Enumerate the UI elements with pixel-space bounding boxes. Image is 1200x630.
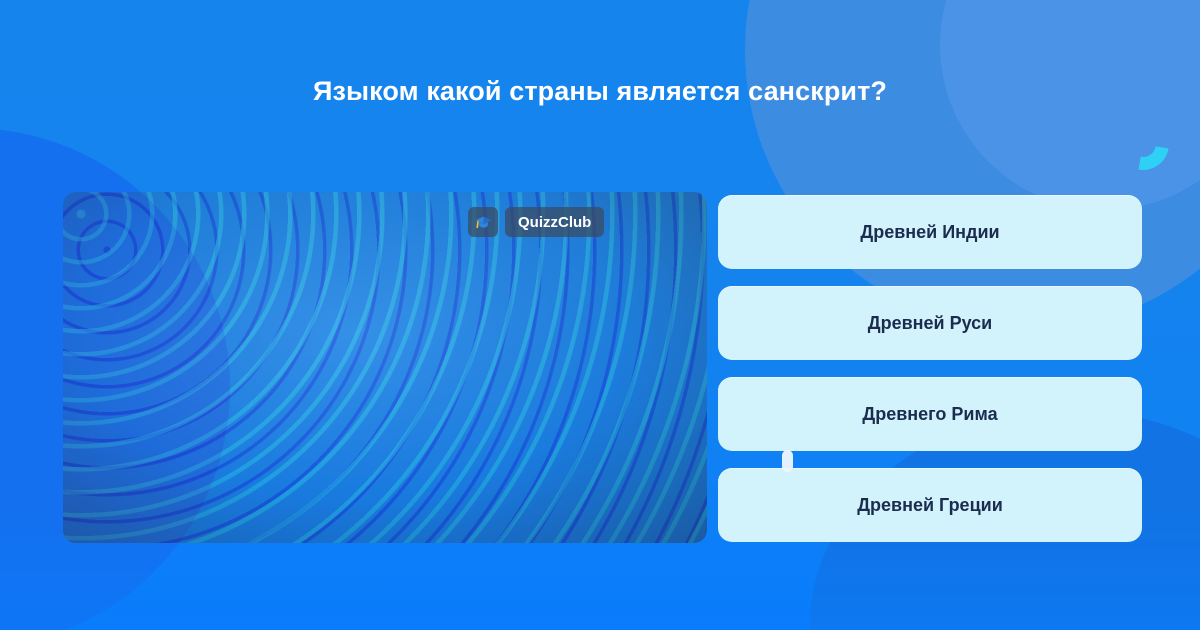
answer-options-list: Древней Индии Древней Руси Древнего Рима… <box>718 195 1142 542</box>
image-vignette <box>63 192 707 543</box>
watermark: QuizzClub <box>468 206 604 238</box>
page-title: Языком какой страны является санскрит? <box>0 74 1200 108</box>
answer-option-2[interactable]: Древней Руси <box>718 286 1142 360</box>
scroll-handle[interactable] <box>782 450 793 472</box>
graduation-cap-icon <box>468 207 498 237</box>
watermark-brand: QuizzClub <box>505 207 604 237</box>
question-image <box>63 192 707 543</box>
answer-option-3[interactable]: Древнего Рима <box>718 377 1142 451</box>
answer-option-1[interactable]: Древней Индии <box>718 195 1142 269</box>
quiz-card: Языком какой страны является санскрит? Q… <box>0 0 1200 630</box>
answer-option-4[interactable]: Древней Греции <box>718 468 1142 542</box>
